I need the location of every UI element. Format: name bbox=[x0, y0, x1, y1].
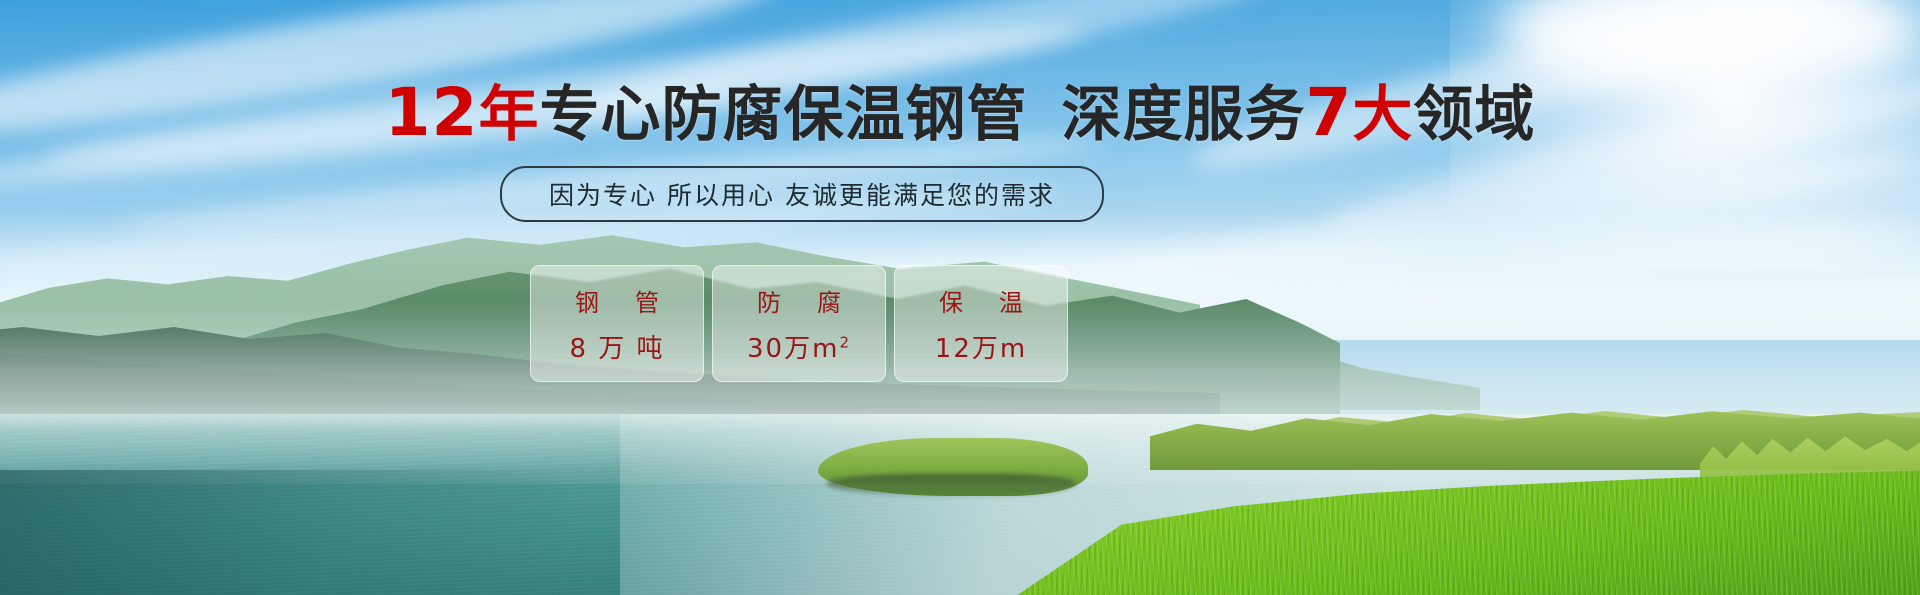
hero-banner: 12年专心防腐保温钢管深度服务7大领域 因为专心 所以用心 友诚更能满足您的需求… bbox=[0, 0, 1920, 595]
stat-card-group: 钢 管 8 万 吨 防 腐 30万m2 保 温 12万m bbox=[530, 265, 1068, 382]
headline: 12年专心防腐保温钢管深度服务7大领域 bbox=[0, 80, 1920, 146]
stat-label: 保 温 bbox=[933, 283, 1029, 318]
stat-value: 30万m2 bbox=[747, 328, 851, 365]
headline-main-text: 专心防腐保温钢管 bbox=[539, 80, 1027, 150]
stat-label: 防 腐 bbox=[751, 283, 847, 318]
stat-card-steel-pipe[interactable]: 钢 管 8 万 吨 bbox=[530, 265, 704, 382]
subtitle-text: 因为专心 所以用心 友诚更能满足您的需求 bbox=[549, 176, 1055, 212]
stat-label: 钢 管 bbox=[569, 283, 665, 318]
lake-shadow bbox=[0, 470, 560, 595]
stat-value-text: 8 万 吨 bbox=[569, 334, 664, 364]
headline-service-text: 深度服务 bbox=[1061, 80, 1305, 150]
headline-fields-text: 领域 bbox=[1413, 80, 1535, 150]
headline-fields-number: 7 bbox=[1305, 74, 1352, 151]
stat-card-anticorrosion[interactable]: 防 腐 30万m2 bbox=[712, 265, 886, 382]
subtitle-pill: 因为专心 所以用心 友诚更能满足您的需求 bbox=[500, 166, 1104, 222]
headline-years-unit: 年 bbox=[478, 80, 539, 150]
stat-value-text: 30万m bbox=[747, 334, 839, 364]
stat-card-insulation[interactable]: 保 温 12万m bbox=[894, 265, 1068, 382]
headline-fields-da: 大 bbox=[1352, 80, 1413, 150]
headline-years-number: 12 bbox=[385, 74, 479, 151]
stat-value: 12万m bbox=[935, 328, 1027, 365]
grass-island-shadow bbox=[826, 474, 1076, 496]
stat-value-text: 12万m bbox=[935, 334, 1027, 364]
stat-value: 8 万 吨 bbox=[569, 328, 664, 365]
stat-value-superscript: 2 bbox=[839, 333, 851, 351]
